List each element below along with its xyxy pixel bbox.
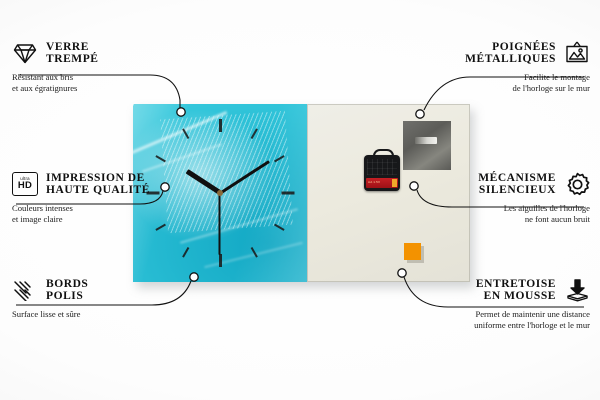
metal-hanger-plate xyxy=(403,121,451,170)
feature-description: Résistant aux bris et aux égratignures xyxy=(12,69,190,93)
diamond-icon xyxy=(12,40,38,66)
feature-header: MÉCANISME SILENCIEUX xyxy=(412,171,590,200)
clock-second-hand xyxy=(219,193,221,255)
feature-poignees-metalliques: POIGNÉES MÉTALLIQUES Facilite le montage… xyxy=(412,40,590,93)
ultra-hd-icon: ultra HD xyxy=(12,171,38,197)
clock-minute-hand xyxy=(219,160,269,194)
clock-tick xyxy=(182,128,189,139)
feature-description: Facilite le montage de l'horloge sur le … xyxy=(412,69,590,93)
hanger-slot xyxy=(415,137,437,144)
feature-entretoise-en-mousse: ENTRETOISE EN MOUSSE Permet de maintenir… xyxy=(412,277,590,330)
feature-title: BORDS POLIS xyxy=(46,278,88,303)
clock-tick xyxy=(274,224,285,231)
feature-header: VERRE TREMPÉ xyxy=(12,40,190,69)
clock-tick xyxy=(155,224,166,231)
clock-tick xyxy=(274,155,285,162)
clock-hour-hand xyxy=(185,169,221,195)
feature-title: ENTRETOISE EN MOUSSE xyxy=(476,278,556,303)
hd-badge-hd-text: HD xyxy=(18,181,32,191)
clock-tick xyxy=(282,192,295,195)
foam-spacer-icon xyxy=(564,277,590,303)
foam-spacer-part xyxy=(404,243,421,260)
battery: AA 1.5V xyxy=(366,178,398,188)
feature-bords-polis: BORDS POLIS Surface lisse et sûre xyxy=(12,277,190,320)
feature-header: BORDS POLIS xyxy=(12,277,190,306)
quartz-mechanism-box: AA 1.5V xyxy=(364,155,400,191)
feature-description: Surface lisse et sûre xyxy=(12,306,190,320)
feature-impression-haute-qualite: ultra HD IMPRESSION DE HAUTE QUALITÉ Cou… xyxy=(12,171,190,224)
feature-header: ultra HD IMPRESSION DE HAUTE QUALITÉ xyxy=(12,171,190,200)
picture-hanger-icon xyxy=(564,40,590,66)
feature-header: POIGNÉES MÉTALLIQUES xyxy=(412,40,590,69)
battery-label: AA 1.5V xyxy=(368,180,380,184)
polished-edges-icon xyxy=(12,277,38,303)
hd-badge: ultra HD xyxy=(12,172,38,196)
feature-description: Couleurs intenses et image claire xyxy=(12,200,190,224)
feature-description: Les aiguilles de l'horloge ne font aucun… xyxy=(412,200,590,224)
clock-center-cap xyxy=(217,190,223,196)
clock-tick xyxy=(219,254,222,267)
feature-title: IMPRESSION DE HAUTE QUALITÉ xyxy=(46,172,150,197)
battery-terminal xyxy=(392,179,397,187)
clock-tick xyxy=(219,119,222,132)
feature-title: MÉCANISME SILENCIEUX xyxy=(478,172,556,197)
clock-tick xyxy=(182,247,189,258)
feature-mecanisme-silencieux: MÉCANISME SILENCIEUX Les aiguilles de l'… xyxy=(412,171,590,224)
gear-icon xyxy=(564,171,590,197)
feature-title: POIGNÉES MÉTALLIQUES xyxy=(465,41,556,66)
feature-header: ENTRETOISE EN MOUSSE xyxy=(412,277,590,306)
clock-tick xyxy=(155,155,166,162)
feature-title: VERRE TREMPÉ xyxy=(46,41,99,66)
clock-tick xyxy=(251,247,258,258)
feature-verre-trempe: VERRE TREMPÉ Résistant aux bris et aux é… xyxy=(12,40,190,93)
infographic-canvas: AA 1.5V xyxy=(0,0,600,400)
clock-tick xyxy=(251,128,258,139)
mechanism-texture xyxy=(367,159,397,175)
feature-description: Permet de maintenir une distance uniform… xyxy=(412,306,590,330)
